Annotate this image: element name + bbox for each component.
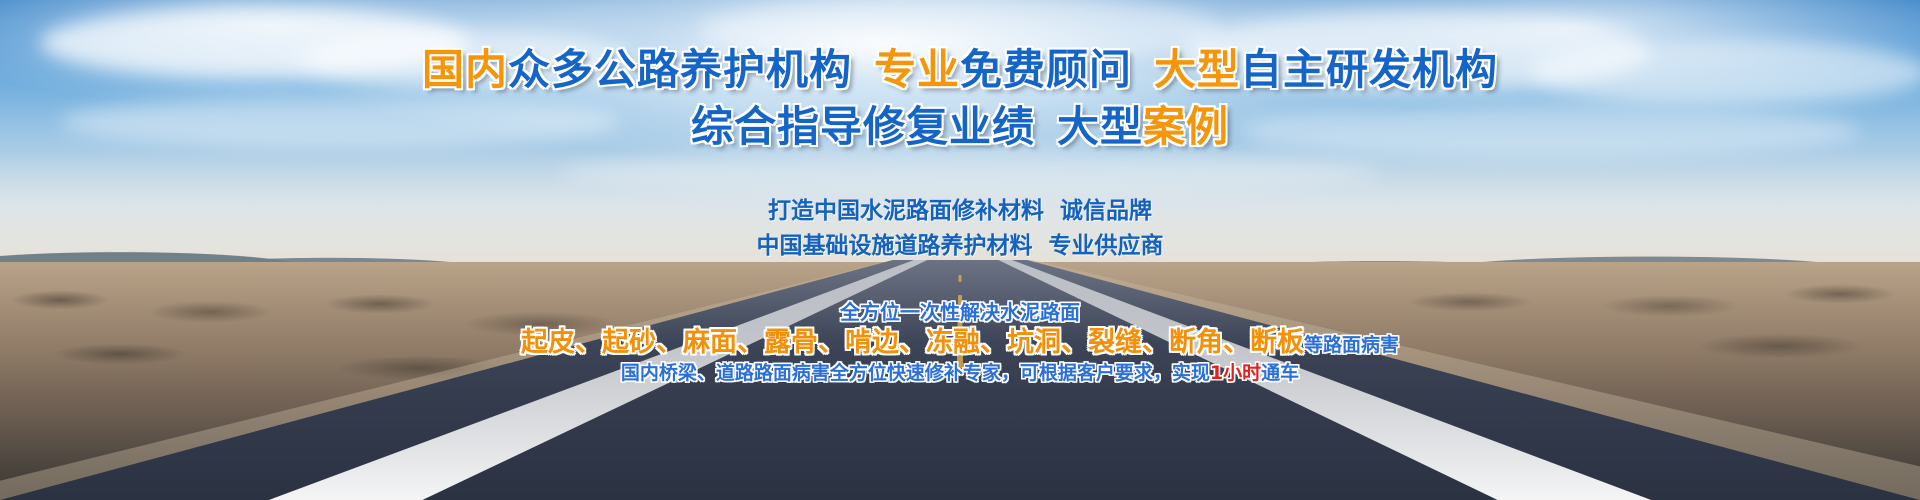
headline-seg-zhuanye: 专业 (874, 45, 960, 94)
headline-seg-daxing: 大型 (1154, 45, 1240, 94)
subtitle-brand-badge: 诚信品牌 (1060, 198, 1152, 224)
headline-seg-daxing2: 大型 (1057, 102, 1143, 151)
headline-line-2: 综合指导修复业绩大型案例 (0, 101, 1920, 153)
subtitle-line-2: 中国基础设施道路养护材料专业供应商 (0, 226, 1920, 260)
road-footer-text: 国内桥梁、道路路面病害全方位快速修补专家，可根据客户要求，实现1小时通车 (0, 358, 1920, 385)
headline-seg-anli: 案例 (1143, 102, 1229, 151)
road-defect-list: 起皮、起砂、麻面、露骨、啃边、冻融、坑洞、裂缝、断角、断板等路面病害 (0, 320, 1920, 359)
promotional-banner: 国内众多公路养护机构专业免费顾问大型自主研发机构 综合指导修复业绩大型案例 打造… (0, 0, 1920, 500)
subtitle-supplier-text: 中国基础设施道路养护材料 (757, 233, 1033, 259)
headline-line-1: 国内众多公路养护机构专业免费顾问大型自主研发机构 (0, 44, 1920, 96)
defect-suffix: 等路面病害 (1304, 334, 1399, 356)
text-overlay-layer: 国内众多公路养护机构专业免费顾问大型自主研发机构 综合指导修复业绩大型案例 打造… (0, 0, 1920, 500)
headline-seg-zonghe: 综合指导修复业绩 (691, 102, 1035, 151)
headline-seg-mianfei: 免费顾问 (960, 45, 1132, 94)
footer-text-tail: 通车 (1261, 362, 1299, 384)
footer-highlight-time: 1小时 (1210, 362, 1261, 384)
subtitle-brand-text: 打造中国水泥路面修补材料 (768, 198, 1044, 224)
headline-seg-zhongduo: 众多公路养护机构 (508, 45, 852, 94)
subtitle-line-1: 打造中国水泥路面修补材料诚信品牌 (0, 191, 1920, 225)
subtitle-supplier-badge: 专业供应商 (1049, 233, 1164, 259)
headline-seg-zizhu: 自主研发机构 (1240, 45, 1498, 94)
headline-seg-guonei: 国内 (422, 45, 508, 94)
footer-text-lead: 国内桥梁、道路路面病害全方位快速修补专家，可根据客户要求，实现 (621, 362, 1210, 384)
defect-names: 起皮、起砂、麻面、露骨、啃边、冻融、坑洞、裂缝、断角、断板 (521, 327, 1304, 358)
